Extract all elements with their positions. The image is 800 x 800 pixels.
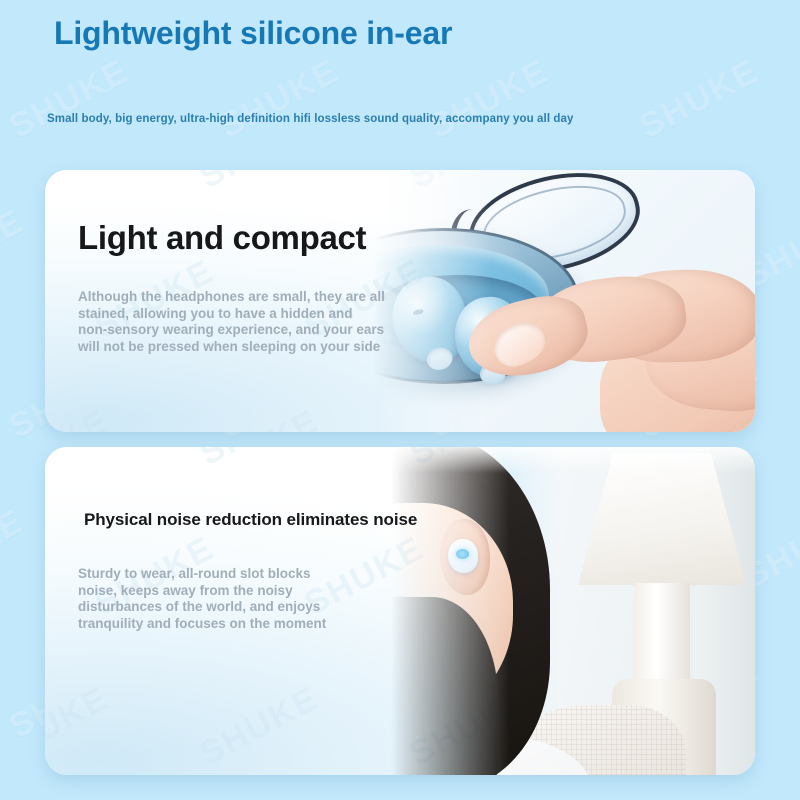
lamp-neck — [634, 583, 690, 683]
card-compact-body-line: non-sensory wearing experience, and your… — [78, 322, 378, 339]
earbud-worn-in-ear — [448, 539, 478, 573]
hair-strand-front — [348, 597, 498, 775]
finger-thumb — [461, 287, 595, 386]
card-compact-body-line: Although the headphones are small, they … — [78, 289, 378, 306]
earbud-led-indicator — [456, 549, 469, 559]
hand-holding-case — [450, 266, 755, 432]
card-noise-body: Sturdy to wear, all-round slot blocks no… — [78, 566, 368, 632]
card-compact-heading: Light and compact — [78, 219, 366, 257]
card-noise-body-line: Sturdy to wear, all-round slot blocks — [78, 566, 368, 583]
card-noise-body-line: disturbances of the world, and enjoys — [78, 599, 368, 616]
page-title: Lightweight silicone in-ear — [54, 15, 452, 52]
page-header: Lightweight silicone in-ear Small body, … — [0, 0, 800, 152]
lifestyle-photo-woman-wearing-earbud — [300, 447, 755, 775]
page-subtitle: Small body, big energy, ultra-high defin… — [47, 113, 574, 125]
earbud-left-vent — [412, 308, 424, 316]
thumb-nail — [487, 314, 551, 373]
card-compact-body-line: will not be pressed when sleeping on you… — [78, 339, 378, 356]
photo-top-fade — [300, 447, 755, 473]
card-noise-body-line: tranquility and focuses on the moment — [78, 616, 368, 633]
watermark-text: SHUKE — [0, 502, 31, 597]
card-noise-body-line: noise, keeps away from the noisy — [78, 583, 368, 600]
watermark-text: SHUKE — [0, 202, 31, 297]
card-compact-body-line: stained, allowing you to have a hidden a… — [78, 306, 378, 323]
card-noise-heading: Physical noise reduction eliminates nois… — [84, 510, 417, 530]
card-compact-body: Although the headphones are small, they … — [78, 289, 378, 355]
product-feature-page: SHUKESHUKESHUKESHUKESHUKESHUKESHUKESHUKE… — [0, 0, 800, 800]
